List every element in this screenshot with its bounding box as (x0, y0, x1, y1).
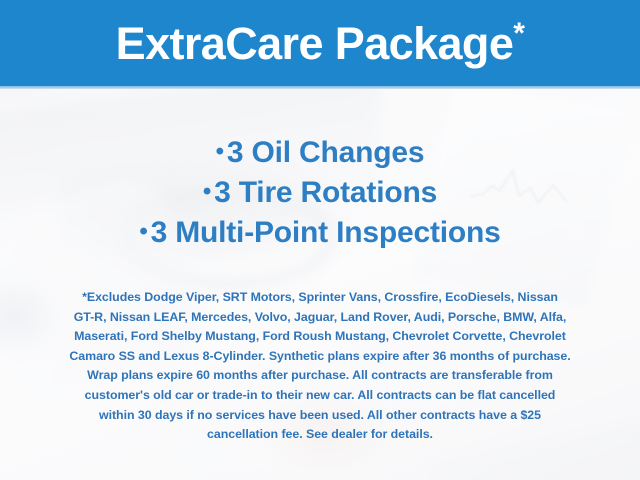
benefit-item-tire-rotations: •3 Tire Rotations (0, 172, 640, 212)
benefit-item-label: 3 Tire Rotations (214, 176, 437, 209)
disclaimer-line: cancellation fee. See dealer for details… (32, 425, 608, 445)
benefit-item-oil-changes: •3 Oil Changes (0, 132, 640, 172)
bullet-icon: • (216, 138, 227, 165)
disclaimer-line: Maserati, Ford Shelby Mustang, Ford Rous… (32, 327, 608, 347)
disclaimer-line: Wrap plans expire 60 months after purcha… (32, 366, 608, 386)
page-title-text: ExtraCare Package (116, 18, 514, 69)
benefit-item-label: 3 Oil Changes (227, 136, 424, 169)
extracare-package-promo-card: ExtraCare Package* •3 Oil Changes •3 Tir… (0, 0, 640, 480)
disclaimer-line: GT-R, Nissan LEAF, Mercedes, Volvo, Jagu… (32, 308, 608, 328)
benefits-list: •3 Oil Changes •3 Tire Rotations •3 Mult… (0, 132, 640, 252)
benefit-item-multi-point-inspections: •3 Multi-Point Inspections (0, 212, 640, 252)
disclaimer-line: Camaro SS and Lexus 8-Cylinder. Syntheti… (32, 347, 608, 367)
header-underline-divider (0, 86, 640, 89)
bullet-icon: • (203, 178, 214, 205)
bullet-icon: • (139, 218, 150, 245)
page-title: ExtraCare Package* (116, 21, 525, 66)
disclaimer-line: customer's old car or trade-in to their … (32, 386, 608, 406)
disclaimer-text: *Excludes Dodge Viper, SRT Motors, Sprin… (32, 288, 608, 445)
disclaimer-line: *Excludes Dodge Viper, SRT Motors, Sprin… (32, 288, 608, 308)
page-title-asterisk: * (513, 17, 524, 50)
header-band: ExtraCare Package* (0, 0, 640, 86)
disclaimer-line: within 30 days if no services have been … (32, 406, 608, 426)
benefit-item-label: 3 Multi-Point Inspections (151, 216, 501, 249)
